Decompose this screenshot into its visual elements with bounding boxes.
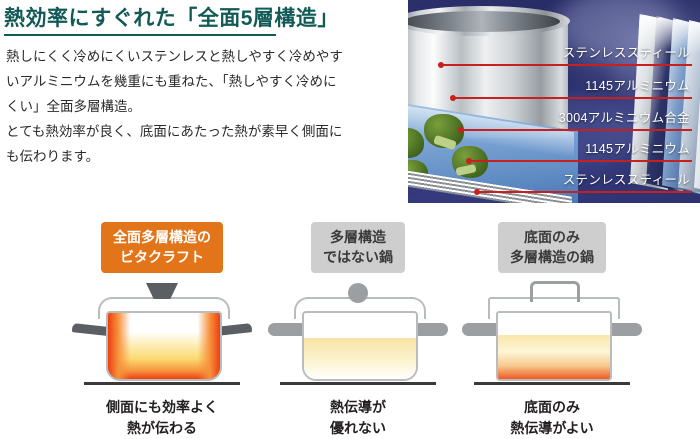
column-caption: 底面のみ 熱伝導がよい (452, 397, 652, 439)
badge-line: 底面のみ (510, 227, 594, 247)
layer-label: 1145アルミニウム (585, 138, 690, 157)
badge-line: ビタクラフト (113, 247, 211, 267)
stove-line (84, 382, 240, 385)
title-underline (4, 34, 276, 36)
intro-line: 熱しにくく冷めにくいステンレスと熱しやすく冷めやす (6, 44, 404, 69)
heat-gradient (108, 313, 220, 379)
intro-line: いアルミニウムを幾重にも重ねた、「熱しやすく冷めに (6, 69, 404, 94)
stainless-pot (408, 6, 574, 186)
caption-line: 優れない (258, 418, 458, 439)
pot-illustration-full-multilayer (62, 283, 262, 391)
layered-pot-cutaway-photo: ステンレススティール 1145アルミニウム 3004アルミニウム合金 1145ア… (408, 0, 700, 203)
intro-paragraph: 熱しにくく冷めにくいステンレスと熱しやすく冷めやす いアルミニウムを幾重にも重ね… (6, 44, 404, 169)
badge-line: 多層構造の鍋 (510, 247, 594, 267)
caption-line: 熱が伝わる (62, 418, 262, 439)
lid-knob (530, 281, 580, 302)
column-badge: 全面多層構造の ビタクラフト (101, 222, 223, 273)
caption-line: 底面のみ (452, 397, 652, 418)
pot-body (106, 311, 222, 381)
badge-line: 多層構造 (323, 227, 393, 247)
intro-line: も伝わります。 (6, 144, 404, 169)
heat-gradient (498, 335, 610, 379)
layer-label: 1145アルミニウム (585, 75, 690, 94)
stove-line (474, 382, 630, 385)
pot-handle-left (462, 323, 498, 336)
column-caption: 側面にも効率よく 熱が伝わる (62, 397, 262, 439)
stove-line (280, 382, 436, 385)
column-caption: 熱伝導が 優れない (258, 397, 458, 439)
caption-line: 熱伝導がよい (452, 418, 652, 439)
pot-body (302, 311, 418, 381)
comparison-column-vitacraft: 全面多層構造の ビタクラフト 側面にも効率よく 熱が伝わる (62, 222, 262, 439)
badge-line: ではない鍋 (323, 247, 393, 267)
pot-illustration-non-multilayer (258, 283, 458, 391)
lid-knob (348, 283, 368, 303)
intro-line: くい」全面多層構造。 (6, 94, 404, 119)
caption-line: 側面にも効率よく (62, 397, 262, 418)
heat-gradient (304, 338, 416, 379)
pot-handle-left (268, 323, 304, 336)
pot-body (496, 311, 612, 381)
pot-illustration-bottom-multilayer (452, 283, 652, 391)
title-block: 熱効率にすぐれた「全面5層構造」 (4, 6, 404, 36)
comparison-section: 全面多層構造の ビタクラフト 側面にも効率よく 熱が伝わる 多層構造 ではない鍋 (0, 222, 700, 438)
intro-line: とても熱効率が良く、底面にあたった熱が素早く側面に (6, 119, 404, 144)
page-title: 熱効率にすぐれた「全面5層構造」 (4, 6, 404, 32)
caption-line: 熱伝導が (258, 397, 458, 418)
pot-handle-left (72, 323, 108, 336)
layer-label: ステンレススティール (563, 169, 690, 188)
badge-line: 全面多層構造の (113, 227, 211, 247)
column-badge: 底面のみ 多層構造の鍋 (498, 222, 606, 273)
comparison-column-non-multilayer: 多層構造 ではない鍋 熱伝導が 優れない (258, 222, 458, 439)
layer-label: ステンレススティール (563, 42, 690, 61)
pot-rim-inner (408, 11, 560, 32)
layer-label: 3004アルミニウム合金 (559, 107, 690, 126)
column-badge: 多層構造 ではない鍋 (311, 222, 405, 273)
comparison-column-bottom-only: 底面のみ 多層構造の鍋 底面のみ 熱伝導がよい (452, 222, 652, 439)
